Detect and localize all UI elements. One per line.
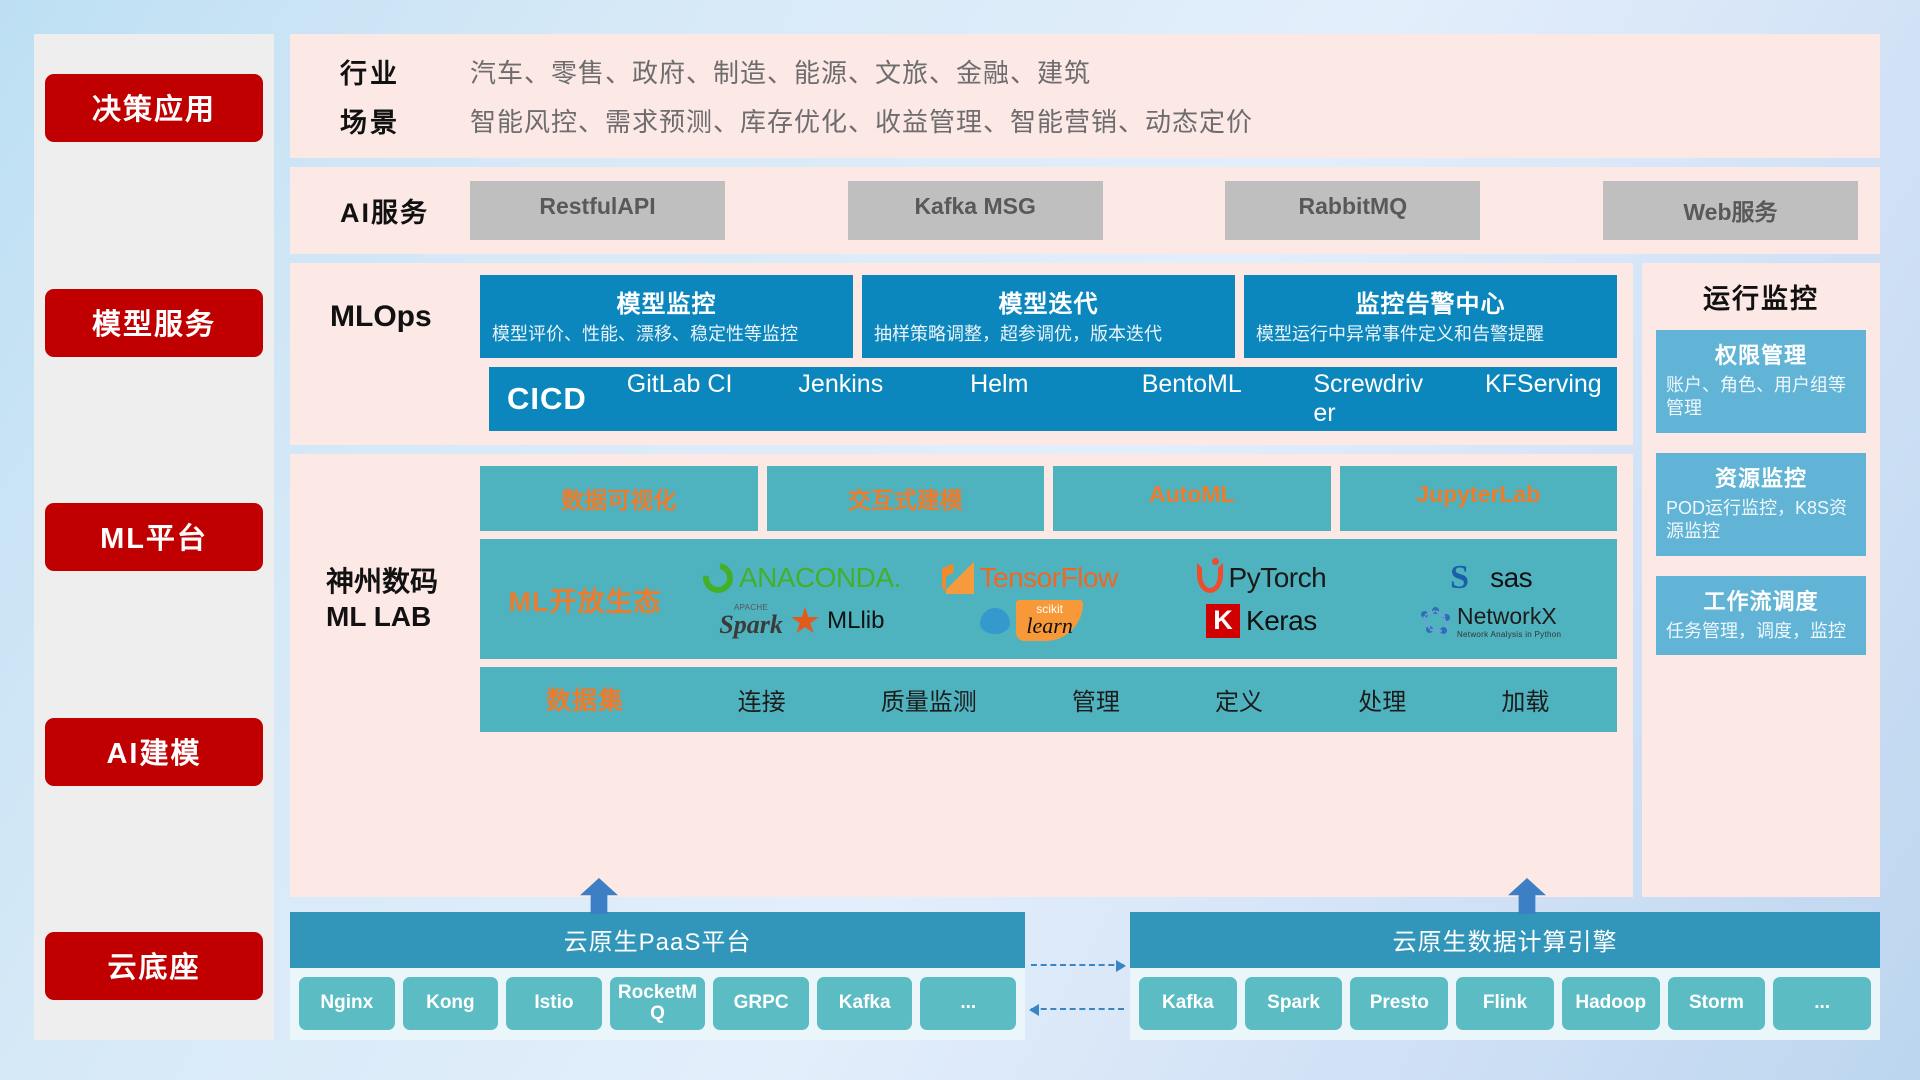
cicd-item-helm[interactable]: Helm <box>970 370 1088 399</box>
mlops-card-title: 监控告警中心 <box>1256 284 1605 319</box>
mlops-card-title: 模型迭代 <box>874 284 1223 319</box>
pytorch-logo-text: PyTorch <box>1229 562 1327 594</box>
rail-item-cloud-foundation[interactable]: 云底座 <box>45 932 263 1000</box>
anaconda-logo-text: ANACONDA. <box>739 562 901 594</box>
paas-chip-rocketmq[interactable]: RocketMQ <box>610 977 706 1030</box>
dataset-row: 数据集 连接 质量监测 管理 定义 处理 加载 <box>480 667 1617 732</box>
platform-left-column: MLOps 模型监控 模型评价、性能、漂移、稳定性等监控 模型迭代 抽样策略调整… <box>290 263 1633 897</box>
monitor-card-desc: 账户、角色、用户组等管理 <box>1666 374 1856 421</box>
mlops-card-desc: 抽样策略调整，超参调优，版本迭代 <box>874 323 1223 346</box>
arrow-right-icon <box>1031 964 1124 966</box>
ai-service-chip-kafka-msg[interactable]: Kafka MSG <box>848 181 1103 240</box>
industry-key: 行业 <box>320 52 470 91</box>
modeling-key-line2: ML LAB <box>326 599 438 634</box>
networkx-logo: NetworkX Network Analysis in Python <box>1421 603 1561 639</box>
modeling-main-row: 神州数码 ML LAB 数据可视化 交互式建模 AutoML JupyterLa… <box>320 466 1617 732</box>
paas-chip-kafka[interactable]: Kafka <box>817 977 913 1030</box>
keras-logo: K Keras <box>1206 604 1317 638</box>
rail-item-decision-application[interactable]: 决策应用 <box>45 74 263 142</box>
monitor-card-desc: 任务管理，调度，监控 <box>1666 620 1856 643</box>
cicd-item-group: GitLab CI Jenkins Helm BentoML Screwdriv… <box>627 370 1603 428</box>
ai-service-band: AI服务 RestfulAPI Kafka MSG RabbitMQ Web服务 <box>290 167 1880 254</box>
paas-platform-title: 云原生PaaS平台 <box>290 912 1025 968</box>
dataset-item-management[interactable]: 管理 <box>1072 682 1120 717</box>
spark-mllib-logo: APACHE Spark ★ MLlib <box>719 603 884 639</box>
scikit-logo-text: learn <box>1026 613 1072 638</box>
scenario-key: 场景 <box>320 101 470 140</box>
dataset-item-quality-monitoring[interactable]: 质量监测 <box>881 682 977 717</box>
spark-logo-text: Spark <box>719 610 783 639</box>
platform-area: MLOps 模型监控 模型评价、性能、漂移、稳定性等监控 模型迭代 抽样策略调整… <box>290 263 1880 897</box>
keras-logo-text: Keras <box>1246 605 1317 637</box>
dataset-item-definition[interactable]: 定义 <box>1215 682 1263 717</box>
ml-ecosystem-row: ML开放生态 ANACONDA. TensorFlow <box>480 539 1617 659</box>
monitor-card-permission-management[interactable]: 权限管理 账户、角色、用户组等管理 <box>1656 330 1866 433</box>
data-engine-chip-hadoop[interactable]: Hadoop <box>1562 977 1660 1030</box>
rail-item-ai-modeling[interactable]: AI建模 <box>45 718 263 786</box>
mlops-card-alert-center[interactable]: 监控告警中心 模型运行中异常事件定义和告警提醒 <box>1244 275 1617 358</box>
paas-chip-more[interactable]: ... <box>920 977 1016 1030</box>
modeling-tab-automl[interactable]: AutoML <box>1053 466 1331 531</box>
paas-chip-kong[interactable]: Kong <box>403 977 499 1030</box>
modeling-tab-interactive-modeling[interactable]: 交互式建模 <box>767 466 1045 531</box>
spark-star-icon: ★ <box>789 603 821 639</box>
industry-value: 汽车、零售、政府、制造、能源、文旅、金融、建筑 <box>470 53 1091 90</box>
diagram-stack: 行业 汽车、零售、政府、制造、能源、文旅、金融、建筑 场景 智能风控、需求预测、… <box>290 34 1880 1040</box>
data-engine-chip-spark[interactable]: Spark <box>1245 977 1343 1030</box>
foundation-link-arrows <box>1025 912 1130 1040</box>
decision-application-band: 行业 汽车、零售、政府、制造、能源、文旅、金融、建筑 场景 智能风控、需求预测、… <box>290 34 1880 158</box>
paas-chip-nginx[interactable]: Nginx <box>299 977 395 1030</box>
modeling-tab-data-visualization[interactable]: 数据可视化 <box>480 466 758 531</box>
cicd-item-screwdriver[interactable]: Screwdriver <box>1313 370 1431 428</box>
networkx-logo-text: NetworkX <box>1457 603 1561 630</box>
cicd-item-jenkins[interactable]: Jenkins <box>798 370 916 399</box>
data-engine-chip-flink[interactable]: Flink <box>1456 977 1554 1030</box>
data-engine-group: 云原生数据计算引擎 Kafka Spark Presto Flink Hadoo… <box>1130 912 1880 1040</box>
layer-rail: 决策应用 模型服务 ML平台 AI建模 云底座 <box>34 34 274 1040</box>
ai-service-chip-web-service[interactable]: Web服务 <box>1603 181 1858 240</box>
keras-icon: K <box>1206 604 1240 638</box>
paas-chip-group: Nginx Kong Istio RocketMQ GRPC Kafka ... <box>290 968 1025 1040</box>
monitor-card-desc: POD运行监控，K8S资源监控 <box>1666 497 1856 544</box>
tensorflow-icon <box>946 562 974 594</box>
industry-row: 行业 汽车、零售、政府、制造、能源、文旅、金融、建筑 <box>320 52 1854 91</box>
ai-modeling-band: 神州数码 ML LAB 数据可视化 交互式建模 AutoML JupyterLa… <box>290 454 1633 897</box>
ai-service-chip-row: RestfulAPI Kafka MSG RabbitMQ Web服务 <box>470 181 1858 240</box>
sas-icon: S <box>1450 561 1484 595</box>
anaconda-logo: ANACONDA. <box>703 562 901 594</box>
modeling-key-line1: 神州数码 <box>326 564 438 599</box>
monitor-card-workflow-scheduling[interactable]: 工作流调度 任务管理，调度，监控 <box>1656 576 1866 655</box>
data-engine-chip-storm[interactable]: Storm <box>1668 977 1766 1030</box>
ai-service-key: AI服务 <box>320 191 470 230</box>
data-engine-chip-kafka[interactable]: Kafka <box>1139 977 1237 1030</box>
mlops-key: MLOps <box>320 275 480 358</box>
mlops-card-model-monitoring[interactable]: 模型监控 模型评价、性能、漂移、稳定性等监控 <box>480 275 853 358</box>
mlops-card-model-iteration[interactable]: 模型迭代 抽样策略调整，超参调优，版本迭代 <box>862 275 1235 358</box>
mlops-card-group: 模型监控 模型评价、性能、漂移、稳定性等监控 模型迭代 抽样策略调整，超参调优，… <box>480 275 1617 358</box>
scenario-row: 场景 智能风控、需求预测、库存优化、收益管理、智能营销、动态定价 <box>320 101 1854 140</box>
architecture-diagram: 决策应用 模型服务 ML平台 AI建模 云底座 行业 汽车、零售、政府、制造、能… <box>0 0 1920 1080</box>
ai-service-chip-restfulapi[interactable]: RestfulAPI <box>470 181 725 240</box>
mlops-card-title: 模型监控 <box>492 284 841 319</box>
data-engine-chip-group: Kafka Spark Presto Flink Hadoop Storm ..… <box>1130 968 1880 1040</box>
sas-logo-text: sas <box>1490 562 1532 594</box>
scikit-blob-icon <box>980 608 1010 634</box>
data-engine-chip-more[interactable]: ... <box>1773 977 1871 1030</box>
networkx-icon <box>1421 607 1451 635</box>
paas-platform-group: 云原生PaaS平台 Nginx Kong Istio RocketMQ GRPC… <box>290 912 1025 1040</box>
pytorch-icon <box>1197 563 1223 593</box>
modeling-tab-group: 数据可视化 交互式建模 AutoML JupyterLab <box>480 466 1617 531</box>
modeling-body: 数据可视化 交互式建模 AutoML JupyterLab ML开放生态 <box>480 466 1617 732</box>
monitor-card-resource-monitoring[interactable]: 资源监控 POD运行监控，K8S资源监控 <box>1656 453 1866 556</box>
networkx-logo-sub: Network Analysis in Python <box>1457 630 1561 639</box>
anaconda-icon <box>697 557 739 599</box>
spark-wordmark: APACHE Spark <box>719 604 783 638</box>
cicd-title: CICD <box>507 381 587 417</box>
mlops-top-row: MLOps 模型监控 模型评价、性能、漂移、稳定性等监控 模型迭代 抽样策略调整… <box>320 275 1617 358</box>
mlops-band: MLOps 模型监控 模型评价、性能、漂移、稳定性等监控 模型迭代 抽样策略调整… <box>290 263 1633 445</box>
runtime-monitor-title: 运行监控 <box>1656 277 1866 316</box>
data-engine-chip-presto[interactable]: Presto <box>1350 977 1448 1030</box>
dataset-item-group: 连接 质量监测 管理 定义 处理 加载 <box>690 682 1597 717</box>
mlops-card-desc: 模型运行中异常事件定义和告警提醒 <box>1256 323 1605 346</box>
cicd-item-bentoml[interactable]: BentoML <box>1142 370 1260 399</box>
dataset-item-processing[interactable]: 处理 <box>1358 682 1406 717</box>
runtime-monitor-card-group: 权限管理 账户、角色、用户组等管理 资源监控 POD运行监控，K8S资源监控 工… <box>1656 330 1866 881</box>
ml-ecosystem-logo-grid: ANACONDA. TensorFlow PyTorch <box>690 557 1603 641</box>
dataset-label: 数据集 <box>480 681 690 717</box>
mlops-card-desc: 模型评价、性能、漂移、稳定性等监控 <box>492 323 841 346</box>
monitor-card-title: 权限管理 <box>1666 338 1856 370</box>
data-engine-title: 云原生数据计算引擎 <box>1130 912 1880 968</box>
scikit-learn-wordmark: scikit learn <box>1016 600 1082 641</box>
tensorflow-logo-text: TensorFlow <box>980 562 1118 594</box>
dataset-item-loading[interactable]: 加载 <box>1501 682 1549 717</box>
runtime-monitor-panel: 运行监控 权限管理 账户、角色、用户组等管理 资源监控 POD运行监控，K8S资… <box>1642 263 1880 897</box>
tensorflow-logo: TensorFlow <box>946 562 1118 594</box>
cicd-item-kfserving[interactable]: KFServing <box>1485 370 1603 399</box>
modeling-key: 神州数码 ML LAB <box>320 466 480 732</box>
monitor-card-title: 工作流调度 <box>1666 584 1856 616</box>
arrow-left-icon <box>1031 1008 1124 1010</box>
cicd-item-gitlab-ci[interactable]: GitLab CI <box>627 370 745 399</box>
rail-item-model-service[interactable]: 模型服务 <box>45 289 263 357</box>
rail-item-ml-platform[interactable]: ML平台 <box>45 503 263 571</box>
monitor-card-title: 资源监控 <box>1666 461 1856 493</box>
ml-ecosystem-label: ML开放生态 <box>480 580 690 619</box>
cloud-foundation-band: 云原生PaaS平台 Nginx Kong Istio RocketMQ GRPC… <box>290 912 1880 1040</box>
ai-service-chip-rabbitmq[interactable]: RabbitMQ <box>1225 181 1480 240</box>
cicd-row: CICD GitLab CI Jenkins Helm BentoML Scre… <box>489 367 1617 431</box>
pytorch-logo: PyTorch <box>1197 562 1327 594</box>
sas-logo: S sas <box>1450 561 1532 595</box>
paas-chip-istio[interactable]: Istio <box>506 977 602 1030</box>
dataset-item-connect[interactable]: 连接 <box>738 682 786 717</box>
scenario-value: 智能风控、需求预测、库存优化、收益管理、智能营销、动态定价 <box>470 102 1253 139</box>
paas-chip-grpc[interactable]: GRPC <box>713 977 809 1030</box>
modeling-tab-jupyterlab[interactable]: JupyterLab <box>1340 466 1618 531</box>
scikit-learn-logo: scikit learn <box>980 600 1082 641</box>
mllib-logo-text: MLlib <box>827 607 884 635</box>
